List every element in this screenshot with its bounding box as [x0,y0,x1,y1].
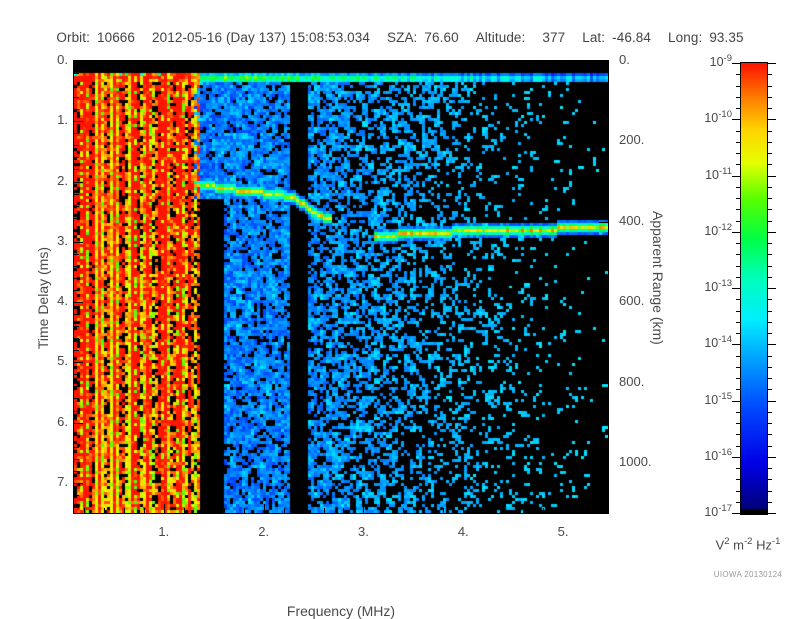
axis-tick [104,508,105,513]
colorbar-minor-tick [767,389,772,390]
frequency-tick-label: 3. [349,524,377,539]
colorbar-minor-tick [767,187,772,188]
axis-tick [74,411,79,412]
axis-tick [603,423,608,424]
colorbar-minor-tick [736,468,741,469]
colorbar [740,62,768,515]
colorbar-minor-tick [767,254,772,255]
colorbar-tick-label: 10-11 [690,166,732,182]
axis-tick [74,483,83,484]
axis-tick [74,362,83,363]
axis-tick [184,508,185,513]
apparent-range-tick-label: 800. [619,374,644,389]
axis-tick [324,508,325,513]
axis-tick [599,222,608,223]
axis-tick [599,463,608,464]
colorbar-minor-tick [736,502,741,503]
colorbar-minor-tick [767,491,772,492]
axis-tick [583,508,584,513]
colorbar-tick [732,513,741,514]
axis-tick [74,61,83,62]
colorbar-minor-tick [767,221,772,222]
axis-tick [383,508,384,513]
altitude-label: Altitude: [476,30,526,45]
colorbar-tick [732,344,741,345]
colorbar-minor-tick [736,356,741,357]
axis-tick [603,262,608,263]
axis-tick [74,157,79,158]
colorbar-minor-tick [736,97,741,98]
metadata-header: Orbit: 10666 2012-05-16 (Day 137) 15:08:… [0,30,800,45]
colorbar-tick [767,176,776,177]
axis-tick [543,508,544,513]
axis-tick [363,504,364,513]
axis-tick [599,302,608,303]
colorbar-minor-tick [736,479,741,480]
colorbar-minor-tick [736,86,741,87]
colorbar-minor-tick [736,434,741,435]
apparent-range-tick-label: 400. [619,213,644,228]
colorbar-minor-tick [767,446,772,447]
axis-tick [74,230,79,231]
axis-tick [74,314,79,315]
axis-tick [463,504,464,513]
colorbar-tick [732,457,741,458]
axis-tick [74,374,79,375]
axis-tick [74,507,79,508]
colorbar-minor-tick [767,311,772,312]
axis-tick [74,254,79,255]
apparent-range-tick-label: 200. [619,132,644,147]
colorbar-minor-tick [736,446,741,447]
colorbar-minor-tick [736,254,741,255]
colorbar-tick [767,401,776,402]
axis-tick [84,508,85,513]
colorbar-tick-label: 10-13 [690,278,732,294]
colorbar-minor-tick [767,266,772,267]
axis-tick [74,182,83,183]
colorbar-minor-tick [767,322,772,323]
colorbar-minor-tick [736,221,741,222]
colorbar-tick [767,119,776,120]
colorbar-minor-tick [736,389,741,390]
long-label: Long: [668,30,702,45]
axis-tick [74,169,79,170]
orbit-label: Orbit: [56,30,90,45]
colorbar-minor-tick [736,187,741,188]
colorbar-minor-tick [767,299,772,300]
axis-tick [204,508,205,513]
y-axis-title-right: Apparent Range (km) [650,211,666,345]
colorbar-minor-tick [767,468,772,469]
colorbar-minor-tick [767,153,772,154]
colorbar-minor-tick [736,209,741,210]
colorbar-minor-tick [767,209,772,210]
colorbar-tick [767,63,776,64]
colorbar-tick [732,119,741,120]
colorbar-minor-tick [767,198,772,199]
axis-tick [224,508,225,513]
colorbar-minor-tick [767,356,772,357]
watermark-credit: UIOWA 20130124 [698,570,798,579]
colorbar-minor-tick [767,97,772,98]
axis-tick [74,85,79,86]
axis-tick [74,350,79,351]
colorbar-minor-tick [767,423,772,424]
colorbar-minor-tick [767,367,772,368]
axis-tick [124,508,125,513]
axis-tick [443,508,444,513]
colorbar-minor-tick [736,142,741,143]
axis-tick [363,61,364,66]
axis-tick [603,503,608,504]
axis-tick [74,290,79,291]
colorbar-minor-tick [736,108,741,109]
colorbar-tick-label: 10-10 [690,109,732,125]
axis-tick [74,97,79,98]
axis-tick [74,218,79,219]
axis-tick [244,508,245,513]
colorbar-tick [732,401,741,402]
axis-tick [599,61,608,62]
axis-tick [264,61,265,66]
colorbar-minor-tick [736,367,741,368]
apparent-range-tick-label: 1000. [619,454,652,469]
axis-tick [603,182,608,183]
colorbar-tick [767,344,776,345]
colorbar-tick [767,513,776,514]
lat-label: Lat: [582,30,605,45]
colorbar-minor-tick [736,423,741,424]
y-axis-title-left: Time Delay (ms) [35,247,51,349]
axis-tick [164,61,165,66]
colorbar-tick-label: 10-15 [690,391,732,407]
colorbar-minor-tick [736,243,741,244]
colorbar-minor-tick [736,412,741,413]
colorbar-unit-label: V2 m-2 Hz-1 [698,536,798,552]
axis-tick [74,435,79,436]
axis-tick [74,206,79,207]
colorbar-minor-tick [736,491,741,492]
colorbar-minor-tick [767,74,772,75]
colorbar-minor-tick [736,198,741,199]
colorbar-tick-label: 10-12 [690,222,732,238]
frequency-tick-label: 5. [549,524,577,539]
colorbar-tick [767,288,776,289]
time-delay-tick-label: 5. [40,353,68,368]
axis-tick [74,121,83,122]
axis-tick [164,504,165,513]
axis-tick [74,133,79,134]
sza-value: 76.60 [424,30,458,45]
x-axis-title: Frequency (MHz) [74,603,608,619]
frequency-tick-label: 1. [150,524,178,539]
apparent-range-tick-label: 0. [619,52,630,67]
time-delay-tick-label: 0. [40,52,68,67]
axis-tick [264,504,265,513]
colorbar-minor-tick [767,243,772,244]
axis-tick [74,423,83,424]
axis-tick [74,242,83,243]
colorbar-minor-tick [736,153,741,154]
axis-tick [463,61,464,66]
axis-tick [74,386,79,387]
colorbar-tick-label: 10-14 [690,334,732,350]
axis-tick [503,508,504,513]
colorbar-tick [732,288,741,289]
time-delay-tick-label: 7. [40,474,68,489]
axis-tick [603,101,608,102]
colorbar-minor-tick [767,434,772,435]
colorbar-tick [767,457,776,458]
colorbar-minor-tick [736,164,741,165]
colorbar-minor-tick [767,412,772,413]
axis-tick [563,61,564,66]
axis-tick [483,508,484,513]
axis-tick [599,383,608,384]
ionogram-plot-area: 0.1.2.3.4.5.6.7. 0.200.400.600.800.1000.… [73,60,609,514]
ionogram-heatmap-canvas [74,61,608,513]
axis-tick [74,73,79,74]
colorbar-minor-tick [767,277,772,278]
colorbar-minor-tick [767,131,772,132]
colorbar-tick [732,176,741,177]
altitude-value: 377 [542,30,565,45]
axis-tick [74,145,79,146]
axis-tick [74,459,79,460]
axis-tick [74,338,79,339]
colorbar-minor-tick [736,131,741,132]
axis-tick [603,342,608,343]
colorbar-minor-tick [767,142,772,143]
colorbar-minor-tick [736,74,741,75]
axis-tick [74,495,79,496]
axis-tick [74,447,79,448]
axis-tick [74,109,79,110]
colorbar-minor-tick [736,311,741,312]
colorbar-minor-tick [767,479,772,480]
colorbar-minor-tick [736,322,741,323]
colorbar-tick [732,63,741,64]
axis-tick [144,508,145,513]
colorbar-tick-label: 10-17 [690,503,732,519]
axis-tick [423,508,424,513]
colorbar-minor-tick [736,266,741,267]
axis-tick [74,398,79,399]
colorbar-minor-tick [767,333,772,334]
axis-tick [74,302,83,303]
axis-tick [523,508,524,513]
colorbar-minor-tick [736,277,741,278]
axis-tick [304,508,305,513]
sza-label: SZA: [387,30,417,45]
colorbar-tick [767,232,776,233]
colorbar-minor-tick [736,333,741,334]
axis-tick [74,266,79,267]
colorbar-tick [732,232,741,233]
time-delay-tick-label: 3. [40,233,68,248]
lat-value: -46.84 [612,30,651,45]
axis-tick [599,141,608,142]
colorbar-minor-tick [736,299,741,300]
ionogram-page: Orbit: 10666 2012-05-16 (Day 137) 15:08:… [0,0,800,600]
observation-datetime: 2012-05-16 (Day 137) 15:08:53.034 [152,30,370,45]
colorbar-gradient [741,63,767,514]
axis-tick [74,326,79,327]
colorbar-minor-tick [767,164,772,165]
axis-tick [403,508,404,513]
time-delay-tick-label: 2. [40,173,68,188]
colorbar-tick-label: 10-16 [690,447,732,463]
colorbar-tick-label: 10-9 [690,53,732,69]
time-delay-tick-label: 6. [40,414,68,429]
colorbar-minor-tick [767,378,772,379]
axis-tick [603,508,604,513]
orbit-value: 10666 [97,30,135,45]
axis-tick [563,504,564,513]
colorbar-minor-tick [767,502,772,503]
colorbar-minor-tick [767,108,772,109]
axis-tick [343,508,344,513]
axis-tick [74,278,79,279]
apparent-range-tick-label: 600. [619,293,644,308]
time-delay-tick-label: 1. [40,112,68,127]
axis-tick [74,194,79,195]
axis-tick [284,508,285,513]
long-value: 93.35 [709,30,743,45]
colorbar-minor-tick [736,378,741,379]
frequency-tick-label: 2. [250,524,278,539]
colorbar-minor-tick [767,86,772,87]
axis-tick [74,471,79,472]
frequency-tick-label: 4. [449,524,477,539]
